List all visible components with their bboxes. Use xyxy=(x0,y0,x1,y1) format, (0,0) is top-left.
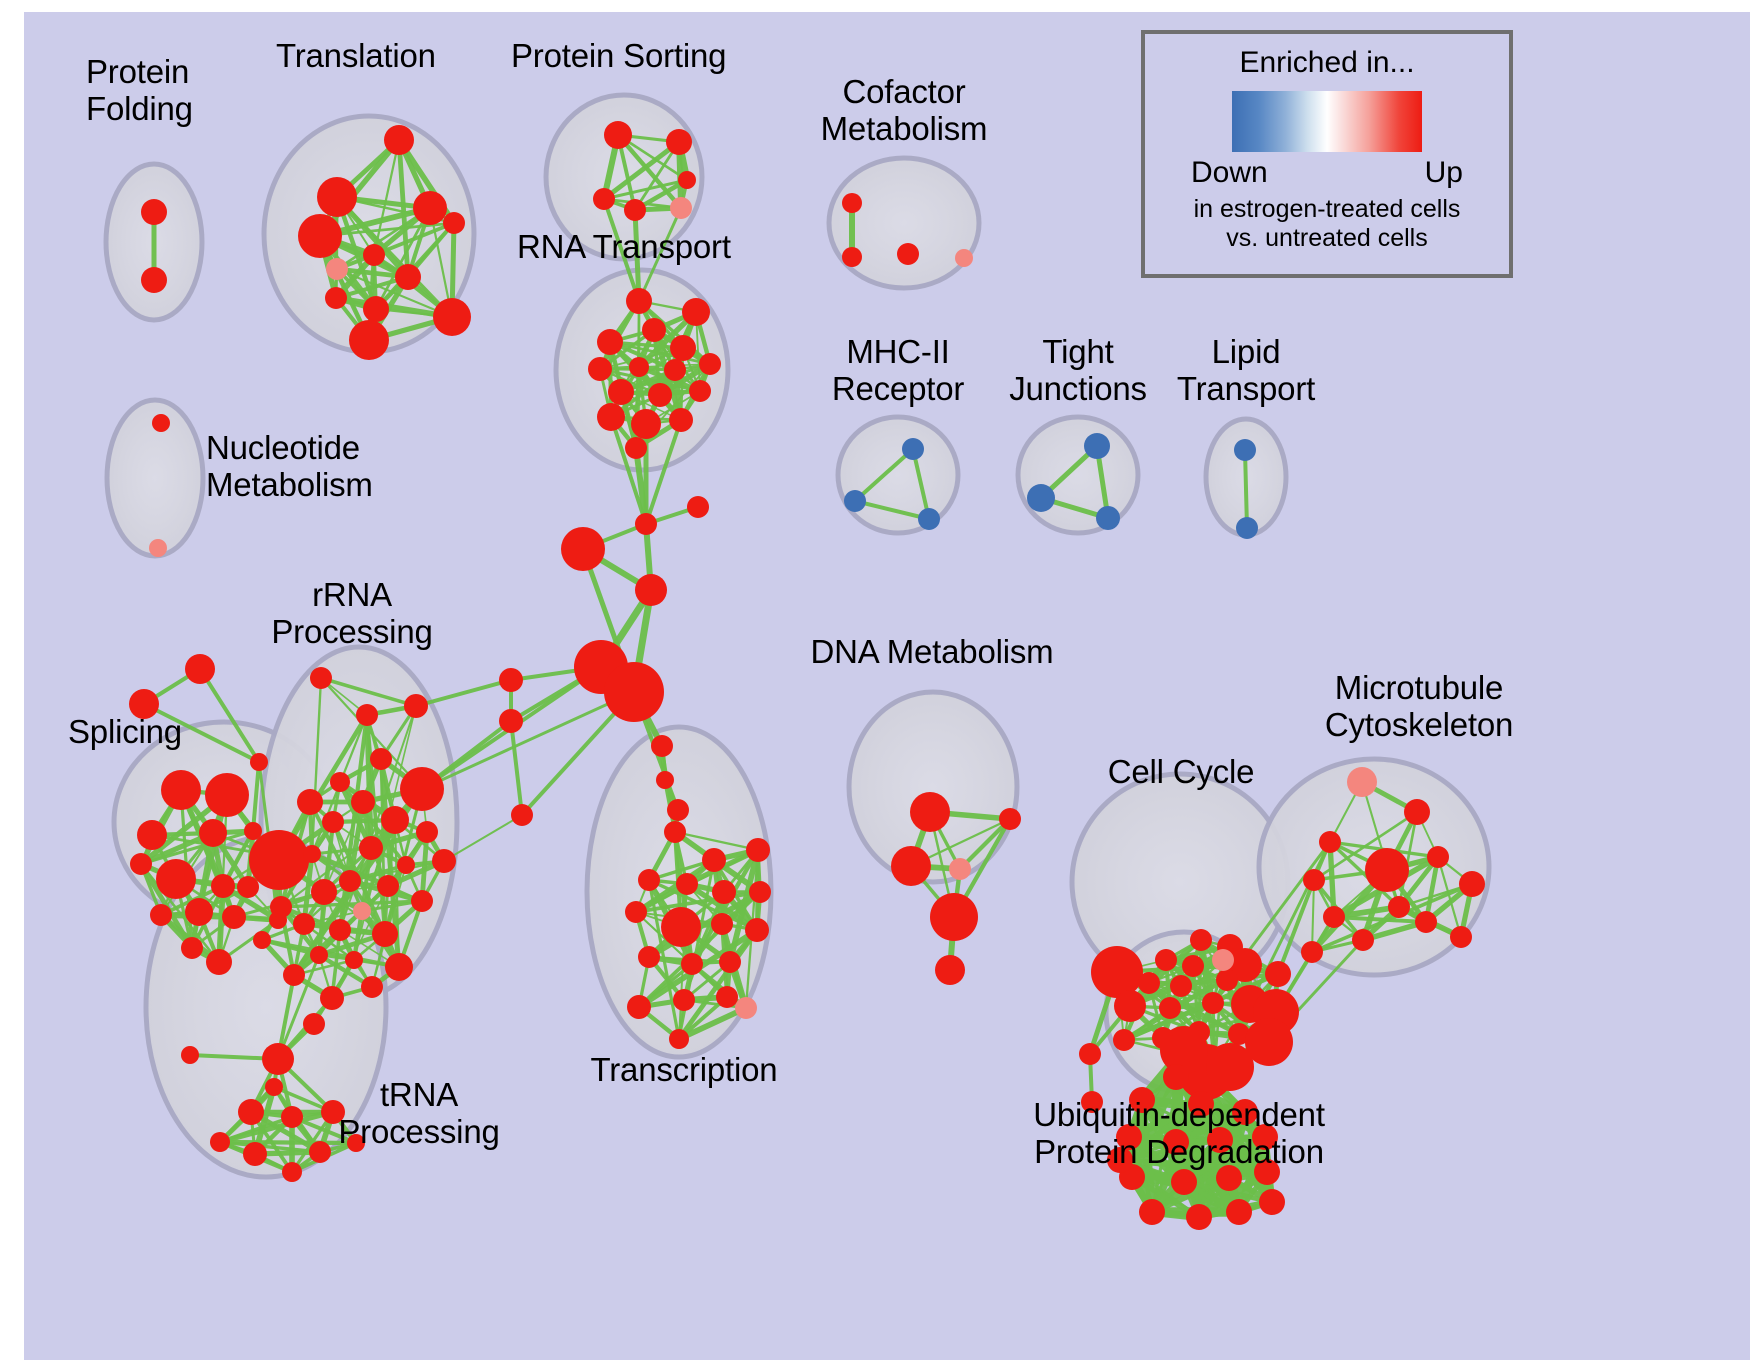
legend-up-label: Up xyxy=(1425,156,1463,190)
cluster-label-rrna-processing: rRNAProcessing xyxy=(252,577,452,651)
network-canvas: ProteinFolding Translation Protein Sorti… xyxy=(24,12,1750,1360)
cluster-label-dna-metabolism: DNA Metabolism xyxy=(802,634,1062,671)
cluster-label-trna-processing: tRNAProcessing xyxy=(304,1077,534,1151)
legend-color-gradient-bar xyxy=(1232,91,1422,152)
legend-title: Enriched in... xyxy=(1145,46,1509,80)
cluster-label-nucleotide-metabolism: NucleotideMetabolism xyxy=(206,430,373,504)
legend-subtitle-line-1: in estrogen-treated cells xyxy=(1145,195,1509,224)
cluster-label-ubiquitin-degradation: Ubiquitin-dependentProtein Degradation xyxy=(969,1097,1389,1171)
legend-subtitle-line-2: vs. untreated cells xyxy=(1145,224,1509,253)
cluster-label-transcription: Transcription xyxy=(569,1052,799,1089)
enrichment-network-figure: ProteinFolding Translation Protein Sorti… xyxy=(0,0,1750,1360)
cluster-label-lipid-transport: LipidTransport xyxy=(1156,334,1336,408)
legend-end-labels: Down Up xyxy=(1145,156,1509,190)
cluster-label-cofactor-metabolism: CofactorMetabolism xyxy=(784,74,1024,148)
legend-box: Enriched in... Down Up in estrogen-treat… xyxy=(1141,30,1513,278)
cluster-label-protein-sorting: Protein Sorting xyxy=(511,38,726,75)
cluster-label-mhc-ii-receptor: MHC-IIReceptor xyxy=(808,334,988,408)
cluster-label-cell-cycle: Cell Cycle xyxy=(1086,754,1276,791)
cluster-label-microtubule-cytoskeleton: MicrotubuleCytoskeleton xyxy=(1279,670,1559,744)
cluster-label-tight-junctions: TightJunctions xyxy=(988,334,1168,408)
cluster-label-splicing: Splicing xyxy=(68,714,182,751)
legend-subtitle: in estrogen-treated cells vs. untreated … xyxy=(1145,195,1509,253)
legend-down-label: Down xyxy=(1191,156,1268,190)
cluster-label-rna-transport: RNA Transport xyxy=(517,229,731,266)
cluster-label-protein-folding: ProteinFolding xyxy=(86,54,193,128)
cluster-label-translation: Translation xyxy=(276,38,436,75)
